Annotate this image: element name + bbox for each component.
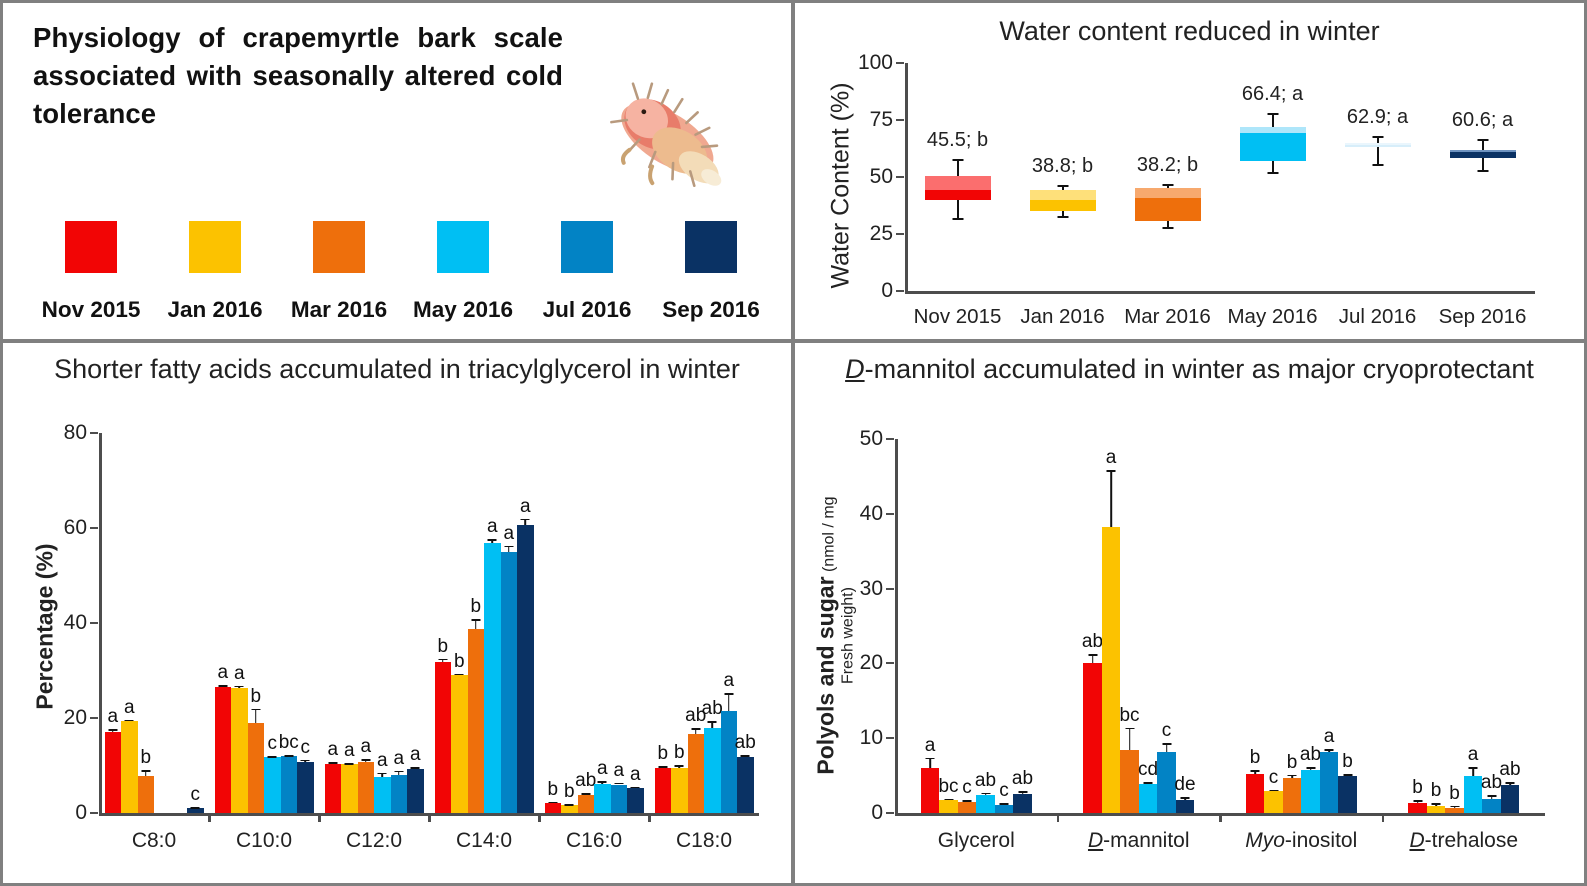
legend-swatch: [65, 221, 117, 273]
significance-letter: b: [1412, 777, 1423, 799]
whisker-lower: [957, 200, 959, 217]
y-axis-tick-label: 40: [833, 502, 883, 526]
boxplot-value-label: 60.6; a: [1452, 109, 1513, 132]
bar: [1338, 776, 1357, 813]
boxplot-value-label: 38.2; b: [1137, 154, 1198, 177]
significance-letter: a: [217, 662, 228, 684]
boxplot-box: 66.4; a: [1240, 63, 1306, 291]
significance-letter: b: [657, 743, 668, 765]
significance-letter: a: [723, 670, 734, 692]
legend-item-sep2016: Sep 2016: [649, 221, 773, 323]
bar: [688, 734, 705, 813]
bar-group-slot: a: [105, 433, 122, 813]
bar-group-slot: b: [561, 433, 578, 813]
bar: [611, 785, 628, 814]
significance-letter: c: [1269, 767, 1279, 789]
x-axis-group-tick: [1219, 813, 1222, 822]
boxplot-box: 38.2; b: [1135, 63, 1201, 291]
whisker-upper: [1272, 113, 1274, 127]
bar-group-slot: b: [1427, 439, 1446, 813]
polyols-panel: D-mannitol accumulated in winter as majo…: [793, 341, 1587, 886]
y-axis-tick-label: 25: [843, 222, 893, 246]
y-axis-tick: [896, 233, 904, 235]
error-bar-cap: [1269, 790, 1278, 792]
x-axis-group-tick: [1057, 813, 1060, 822]
whisker-lower: [1377, 147, 1379, 165]
bar: [105, 732, 122, 813]
bar: [655, 768, 672, 813]
y-axis-tick-label: 80: [37, 421, 87, 445]
significance-letter: a: [1106, 447, 1117, 469]
bar-group-slot: ab: [704, 433, 721, 813]
box-lower-quartile: [1240, 133, 1306, 162]
y-axis-tick: [896, 62, 904, 64]
error-bar-cap: [268, 756, 277, 758]
significance-letter: b: [140, 747, 151, 769]
bar-group-slot: a: [231, 433, 248, 813]
bar-group-slot: ab: [1501, 439, 1520, 813]
whisker-lower: [1482, 158, 1484, 171]
x-axis-group-tick: [1382, 813, 1385, 822]
bar: [121, 721, 138, 813]
significance-letter: a: [234, 663, 245, 685]
y-axis-tick: [886, 588, 894, 590]
error-bar-cap: [675, 765, 684, 767]
bar: [921, 768, 940, 813]
bar-group-slot: a: [627, 433, 644, 813]
bar: [138, 776, 155, 813]
significance-letter: a: [487, 516, 498, 538]
bar-group-slot: b: [1283, 439, 1302, 813]
error-bar-cap: [1000, 803, 1009, 805]
significance-letter: c: [191, 784, 201, 806]
error-bar-cap: [521, 519, 530, 521]
bar: [737, 757, 754, 813]
bar-group-slot: bc: [281, 433, 298, 813]
box-lower-quartile: [925, 190, 991, 200]
crapemyrtle-bark-scale-insect-icon: [588, 81, 748, 201]
bar: [297, 762, 314, 813]
x-axis-group-tick: [208, 813, 211, 822]
fatty-acids-panel: Shorter fatty acids accumulated in triac…: [0, 341, 793, 886]
error-bar-cap: [614, 783, 623, 785]
whisker-upper: [957, 159, 959, 176]
legend-item-nov2015: Nov 2015: [29, 221, 153, 323]
significance-letter: c: [268, 733, 278, 755]
y-axis-tick: [886, 662, 894, 664]
bar: [1157, 752, 1176, 813]
error-bar: [255, 709, 257, 723]
x-axis-category-label: Sep 2016: [1418, 305, 1548, 329]
box-upper-quartile: [1135, 188, 1201, 197]
bar-group-slot: ab: [976, 439, 995, 813]
error-bar-cap: [1450, 806, 1459, 808]
title-panel: Physiology of crapemyrtle bark scale ass…: [0, 0, 793, 341]
bar-group-slot: b: [545, 433, 562, 813]
bar: [976, 795, 995, 813]
legend-label: Mar 2016: [291, 297, 387, 323]
whisker-cap-lower: [1267, 172, 1278, 174]
bar-group-slot: ab: [1083, 439, 1102, 813]
x-axis-group-tick: [428, 813, 431, 822]
bar: [1176, 800, 1195, 813]
significance-letter: a: [925, 735, 936, 757]
significance-letter: a: [520, 496, 531, 518]
bar-group-slot: bc: [1120, 439, 1139, 813]
bar: [578, 795, 595, 813]
x-axis-line: [905, 291, 1535, 294]
error-bar-cap: [1432, 803, 1441, 805]
whisker-cap-lower: [1477, 170, 1488, 172]
bar: [468, 629, 485, 813]
error-bar-cap: [218, 685, 227, 687]
y-axis-tick-label: 20: [37, 706, 87, 730]
y-axis-line: [895, 439, 898, 813]
y-axis-tick: [90, 527, 98, 529]
error-bar: [1110, 470, 1112, 527]
y-axis-tick: [896, 119, 904, 121]
bar: [1139, 784, 1158, 813]
whisker-cap-lower: [1057, 216, 1068, 218]
y-axis-tick-label: 40: [37, 611, 87, 635]
bar-group-slot: [154, 433, 171, 813]
legend-item-mar2016: Mar 2016: [277, 221, 401, 323]
error-bar-cap: [235, 686, 244, 688]
bar-group-slot: a: [374, 433, 391, 813]
error-bar-cap: [1162, 743, 1171, 745]
significance-letter: c: [999, 780, 1009, 802]
plot-area-fattyacids: 020406080aabcaabcbccaaaaaabbbaaabbabaaab…: [99, 433, 759, 813]
boxplot-value-label: 62.9; a: [1347, 106, 1408, 129]
x-axis-category-label: C18:0: [619, 829, 789, 853]
error-bar-cap: [1306, 767, 1315, 769]
box-lower-quartile: [1450, 152, 1516, 158]
error-bar-cap: [926, 758, 935, 760]
y-axis-tick-label: 10: [833, 726, 883, 750]
bar: [435, 662, 452, 813]
error-bar-cap: [378, 773, 387, 775]
significance-letter: b: [547, 779, 558, 801]
error-bar-cap: [1288, 775, 1297, 777]
bar: [1408, 803, 1427, 813]
box-lower-quartile: [1030, 200, 1096, 211]
significance-letter: bc: [1119, 705, 1139, 727]
error-bar-cap: [1125, 728, 1134, 730]
whisker-cap-upper: [1477, 139, 1488, 141]
bar-group-slot: ab: [1301, 439, 1320, 813]
error-bar-cap: [581, 793, 590, 795]
y-axis-tick-label: 75: [843, 108, 893, 132]
bar: [1102, 527, 1121, 813]
boxplot-value-label: 45.5; b: [927, 129, 988, 152]
x-axis-category-label: D-trehalose: [1379, 829, 1549, 853]
x-axis-category-label: Glycerol: [891, 829, 1061, 853]
error-bar-cap: [301, 760, 310, 762]
bar-group-slot: b: [435, 433, 452, 813]
y-axis-tick-label: 60: [37, 516, 87, 540]
bar-group-slot: b: [1445, 439, 1464, 813]
bar: [325, 764, 342, 813]
bar-group-slot: c: [995, 439, 1014, 813]
error-bar-cap: [691, 728, 700, 730]
significance-letter: b: [674, 742, 685, 764]
significance-letter: b: [454, 651, 465, 673]
whisker-cap-lower: [952, 218, 963, 220]
bar-group-slot: a: [594, 433, 611, 813]
bar-group-slot: b: [468, 433, 485, 813]
bar-group-slot: c: [187, 433, 204, 813]
significance-letter: a: [377, 750, 388, 772]
significance-letter: c: [962, 777, 972, 799]
bar-group-slot: c: [297, 433, 314, 813]
bar: [1246, 774, 1265, 813]
bar: [1482, 799, 1501, 813]
bar-group-slot: a: [407, 433, 424, 813]
x-axis-category-label: D-mannitol: [1054, 829, 1224, 853]
significance-letter: b: [250, 686, 261, 708]
error-bar-cap: [108, 729, 117, 731]
chart-title-fattyacids: Shorter fatty acids accumulated in triac…: [3, 353, 791, 386]
error-bar-cap: [251, 709, 260, 711]
significance-letter: a: [344, 740, 355, 762]
error-bar-cap: [141, 770, 150, 772]
bar: [704, 728, 721, 813]
error-bar-cap: [741, 755, 750, 757]
bar-group-slot: a: [517, 433, 534, 813]
y-axis-tick: [90, 432, 98, 434]
bar-group-slot: c: [1264, 439, 1283, 813]
error-bar-cap: [1107, 470, 1116, 472]
significance-letter: a: [1324, 726, 1335, 748]
y-axis-tick-label: 50: [833, 427, 883, 451]
error-bar-cap: [963, 800, 972, 802]
x-axis-group-tick: [318, 813, 321, 822]
error-bar-cap: [1018, 791, 1027, 793]
bar-group-slot: a: [1320, 439, 1339, 813]
plot-area-water: 025507510045.5; b38.8; b38.2; b66.4; a62…: [905, 63, 1535, 291]
significance-letter: b: [1431, 780, 1442, 802]
error-bar-cap: [1181, 797, 1190, 799]
bar-group-slot: a: [215, 433, 232, 813]
error-bar: [1129, 728, 1131, 750]
boxplot-box: 62.9; a: [1345, 63, 1411, 291]
significance-letter: a: [597, 758, 608, 780]
significance-letter: cd: [1138, 759, 1158, 781]
error-bar-cap: [328, 762, 337, 764]
bar-group-slot: bc: [939, 439, 958, 813]
significance-letter: b: [1449, 783, 1460, 805]
bar-group-slot: ab: [737, 433, 754, 813]
whisker-cap-upper: [1267, 113, 1278, 115]
y-axis-tick: [90, 622, 98, 624]
box-upper-quartile: [925, 176, 991, 190]
legend-label: Jan 2016: [167, 297, 262, 323]
box-upper-quartile: [1030, 190, 1096, 200]
bar-group-slot: c: [264, 433, 281, 813]
error-bar-cap: [284, 755, 293, 757]
bar: [1083, 663, 1102, 813]
significance-letter: b: [1342, 751, 1353, 773]
significance-letter: ab: [1082, 631, 1103, 653]
boxplot-box: 45.5; b: [925, 63, 991, 291]
legend-label: May 2016: [413, 297, 513, 323]
box-lower-quartile: [1135, 198, 1201, 221]
legend-item-jul2016: Jul 2016: [525, 221, 649, 323]
error-bar-cap: [125, 720, 134, 722]
whisker-cap-upper: [952, 159, 963, 161]
significance-letter: b: [1250, 747, 1261, 769]
poster-figure: Physiology of crapemyrtle bark scale ass…: [0, 0, 1587, 886]
bar: [1445, 808, 1464, 813]
significance-letter: a: [360, 736, 371, 758]
whisker-cap-lower: [1372, 164, 1383, 166]
y-axis-tick: [90, 717, 98, 719]
error-bar-cap: [1088, 654, 1097, 656]
bar-group-slot: b: [1338, 439, 1357, 813]
y-axis-tick: [896, 176, 904, 178]
chart-title-water: Water content reduced in winter: [795, 15, 1584, 48]
y-axis-tick: [896, 290, 904, 292]
bar-group-slot: c: [1157, 439, 1176, 813]
y-axis-tick: [886, 812, 894, 814]
y-axis-line: [99, 433, 102, 813]
bar-group-slot: a: [341, 433, 358, 813]
y-axis-tick-label: 0: [843, 279, 893, 303]
bar: [231, 688, 248, 813]
y-axis-line: [905, 63, 908, 291]
bar-group-slot: a: [721, 433, 738, 813]
bar-group-slot: a: [611, 433, 628, 813]
legend-item-may2016: May 2016: [401, 221, 525, 323]
significance-letter: ab: [1499, 759, 1520, 781]
bar: [958, 802, 977, 813]
error-bar-cap: [708, 721, 717, 723]
error-bar-cap: [438, 659, 447, 661]
significance-letter: ab: [975, 770, 996, 792]
bar: [1501, 785, 1520, 813]
bar-group-slot: b: [655, 433, 672, 813]
legend-swatch: [189, 221, 241, 273]
page-title: Physiology of crapemyrtle bark scale ass…: [33, 19, 563, 133]
y-axis-tick-label: 20: [833, 651, 883, 675]
x-axis-category-label: Myo-inositol: [1216, 829, 1386, 853]
boxplot-box: 60.6; a: [1450, 63, 1516, 291]
error-bar-cap: [1469, 767, 1478, 769]
significance-letter: ab: [1012, 768, 1033, 790]
bar: [215, 687, 232, 813]
significance-letter: c: [1162, 720, 1172, 742]
bar-group-slot: a: [484, 433, 501, 813]
y-axis-tick-label: 30: [833, 577, 883, 601]
box-lower-quartile: [1345, 145, 1411, 147]
bar: [1264, 791, 1283, 813]
error-bar-cap: [361, 759, 370, 761]
season-legend: Nov 2015 Jan 2016 Mar 2016 May 2016 Jul …: [3, 221, 793, 323]
boxplot-box: 38.8; b: [1030, 63, 1096, 291]
significance-letter: b: [564, 781, 575, 803]
significance-letter: b: [1287, 752, 1298, 774]
whisker-lower: [1272, 161, 1274, 172]
bar: [939, 800, 958, 813]
bar-group-slot: b: [1408, 439, 1427, 813]
bar-group-slot: c: [958, 439, 977, 813]
chart-title-polyols: D-mannitol accumulated in winter as majo…: [795, 353, 1584, 386]
bar-group-slot: b: [451, 433, 468, 813]
significance-letter: b: [470, 596, 481, 618]
significance-letter: a: [630, 764, 641, 786]
significance-letter: bc: [279, 732, 299, 754]
bar-group-slot: a: [391, 433, 408, 813]
legend-swatch: [685, 221, 737, 273]
error-bar-cap: [944, 799, 953, 801]
bar-group-slot: a: [325, 433, 342, 813]
significance-letter: b: [437, 636, 448, 658]
error-bar-cap: [548, 802, 557, 804]
bar-group-slot: [171, 433, 188, 813]
error-bar-cap: [394, 771, 403, 773]
bar-group-slot: ab: [1013, 439, 1032, 813]
bar: [594, 784, 611, 813]
x-axis-group-tick: [538, 813, 541, 822]
whisker-cap-upper: [1162, 184, 1173, 186]
error-bar-cap: [598, 781, 607, 783]
bar: [187, 808, 204, 813]
error-bar-cap: [1487, 795, 1496, 797]
bar: [1427, 806, 1446, 813]
error-bar-cap: [1325, 749, 1334, 751]
bar: [484, 543, 501, 813]
bar: [374, 777, 391, 813]
error-bar-cap: [191, 807, 200, 809]
legend-label: Sep 2016: [662, 297, 760, 323]
bar: [721, 711, 738, 813]
error-bar: [728, 693, 730, 711]
bar-group-slot: b: [671, 433, 688, 813]
error-bar-cap: [658, 766, 667, 768]
legend-item-jan2016: Jan 2016: [153, 221, 277, 323]
water-content-panel: Water content reduced in winter Water Co…: [793, 0, 1587, 341]
bar-group-slot: ab: [578, 433, 595, 813]
error-bar-cap: [1506, 782, 1515, 784]
bar: [281, 756, 298, 813]
legend-swatch: [437, 221, 489, 273]
significance-letter: ab: [1300, 744, 1321, 766]
error-bar-cap: [471, 619, 480, 621]
boxplot-value-label: 38.8; b: [1032, 155, 1093, 178]
bar-group-slot: b: [1246, 439, 1265, 813]
error-bar-cap: [504, 546, 513, 548]
whisker-cap-upper: [1372, 136, 1383, 138]
significance-letter: a: [393, 748, 404, 770]
whisker-cap-lower: [1162, 227, 1173, 229]
plot-area-polyols: 01020304050abccabcabababccdcdebcbababbbb…: [895, 439, 1545, 813]
bar: [1464, 776, 1483, 813]
significance-letter: c: [301, 737, 311, 759]
error-bar-cap: [1251, 770, 1260, 772]
y-axis-tick: [886, 737, 894, 739]
significance-letter: a: [107, 706, 118, 728]
legend-label: Jul 2016: [543, 297, 632, 323]
error-bar-cap: [981, 793, 990, 795]
bar: [995, 805, 1014, 813]
bar-group-slot: ab: [688, 433, 705, 813]
significance-letter: a: [124, 697, 135, 719]
bar: [517, 525, 534, 813]
y-axis-tick-label: 0: [37, 801, 87, 825]
error-bar-cap: [411, 767, 420, 769]
bar-group-slot: a: [121, 433, 138, 813]
bar: [1320, 752, 1339, 813]
